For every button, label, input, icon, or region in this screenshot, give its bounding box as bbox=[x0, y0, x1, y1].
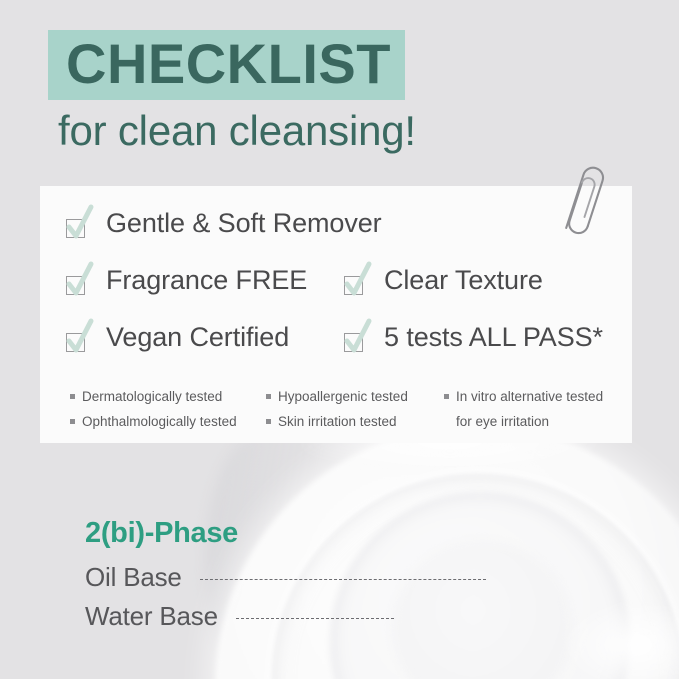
fine-print-label: for eye irritation bbox=[456, 409, 549, 434]
checklist-item-label: Vegan Certified bbox=[106, 322, 289, 353]
checklist-item-5-tests-all-pass[interactable]: 5 tests ALL PASS* bbox=[336, 317, 603, 357]
phase-label: Water Base bbox=[85, 601, 218, 632]
checklist-item-vegan-certified[interactable]: Vegan Certified bbox=[58, 317, 289, 357]
fine-print-column-1: Dermatologically tested Ophthalmological… bbox=[70, 384, 266, 434]
fine-print-item: Skin irritation tested bbox=[266, 409, 444, 434]
dish-shadow bbox=[205, 430, 325, 679]
bullet-icon bbox=[70, 419, 75, 424]
phase-row-water-base: Water Base bbox=[85, 601, 394, 632]
checkmark-icon bbox=[336, 260, 376, 300]
fine-print-label: Ophthalmologically tested bbox=[82, 409, 237, 434]
checkbox-checked-icon[interactable] bbox=[336, 260, 376, 300]
checkbox-checked-icon[interactable] bbox=[58, 317, 98, 357]
fine-print-item: Ophthalmologically tested bbox=[70, 409, 266, 434]
phase-label: Oil Base bbox=[85, 562, 182, 593]
checklist-item-label: 5 tests ALL PASS* bbox=[384, 322, 603, 353]
bullet-spacer bbox=[444, 419, 449, 424]
fine-print-list: Dermatologically tested Ophthalmological… bbox=[70, 384, 630, 434]
checkmark-icon bbox=[58, 203, 98, 243]
product-detail-graphic: CHECKLIST for clean cleansing! Gentle & … bbox=[0, 0, 679, 679]
checklist-item-fragrance-free[interactable]: Fragrance FREE bbox=[58, 260, 307, 300]
fine-print-column-3: In vitro alternative tested for eye irri… bbox=[444, 384, 630, 434]
checkbox-checked-icon[interactable] bbox=[336, 317, 376, 357]
fine-print-label: Hypoallergenic tested bbox=[278, 384, 408, 409]
dashed-leader-line bbox=[200, 579, 486, 581]
checklist-item-gentle-soft-remover[interactable]: Gentle & Soft Remover bbox=[58, 203, 382, 243]
fine-print-column-2: Hypoallergenic tested Skin irritation te… bbox=[266, 384, 444, 434]
checkbox-checked-icon[interactable] bbox=[58, 260, 98, 300]
checkmark-icon bbox=[336, 317, 376, 357]
fine-print-label: In vitro alternative tested bbox=[456, 384, 603, 409]
dish-outer-rim bbox=[215, 425, 679, 679]
title-highlight-band: CHECKLIST bbox=[48, 30, 405, 100]
page-subtitle: for clean cleansing! bbox=[58, 107, 416, 154]
fine-print-item: for eye irritation bbox=[444, 409, 630, 434]
fine-print-item: Dermatologically tested bbox=[70, 384, 266, 409]
dish-highlight bbox=[560, 600, 679, 679]
phase-row-oil-base: Oil Base bbox=[85, 562, 486, 593]
page-title: CHECKLIST bbox=[48, 30, 405, 100]
checkmark-icon bbox=[58, 317, 98, 357]
phase-title: 2(bi)-Phase bbox=[85, 517, 238, 550]
checklist-item-label: Gentle & Soft Remover bbox=[106, 208, 382, 239]
bullet-icon bbox=[266, 419, 271, 424]
dish-center bbox=[392, 540, 572, 679]
title-text: CHECKLIST bbox=[66, 36, 391, 92]
checkbox-checked-icon[interactable] bbox=[58, 203, 98, 243]
fine-print-item: In vitro alternative tested bbox=[444, 384, 630, 409]
bullet-icon bbox=[266, 394, 271, 399]
dashed-leader-line bbox=[236, 618, 394, 620]
checklist-item-label: Fragrance FREE bbox=[106, 265, 307, 296]
checklist-item-clear-texture[interactable]: Clear Texture bbox=[336, 260, 543, 300]
bullet-icon bbox=[444, 394, 449, 399]
fine-print-label: Dermatologically tested bbox=[82, 384, 222, 409]
paperclip-icon bbox=[556, 154, 612, 244]
checklist-item-label: Clear Texture bbox=[384, 265, 543, 296]
bullet-icon bbox=[70, 394, 75, 399]
fine-print-item: Hypoallergenic tested bbox=[266, 384, 444, 409]
checkmark-icon bbox=[58, 260, 98, 300]
fine-print-label: Skin irritation tested bbox=[278, 409, 397, 434]
